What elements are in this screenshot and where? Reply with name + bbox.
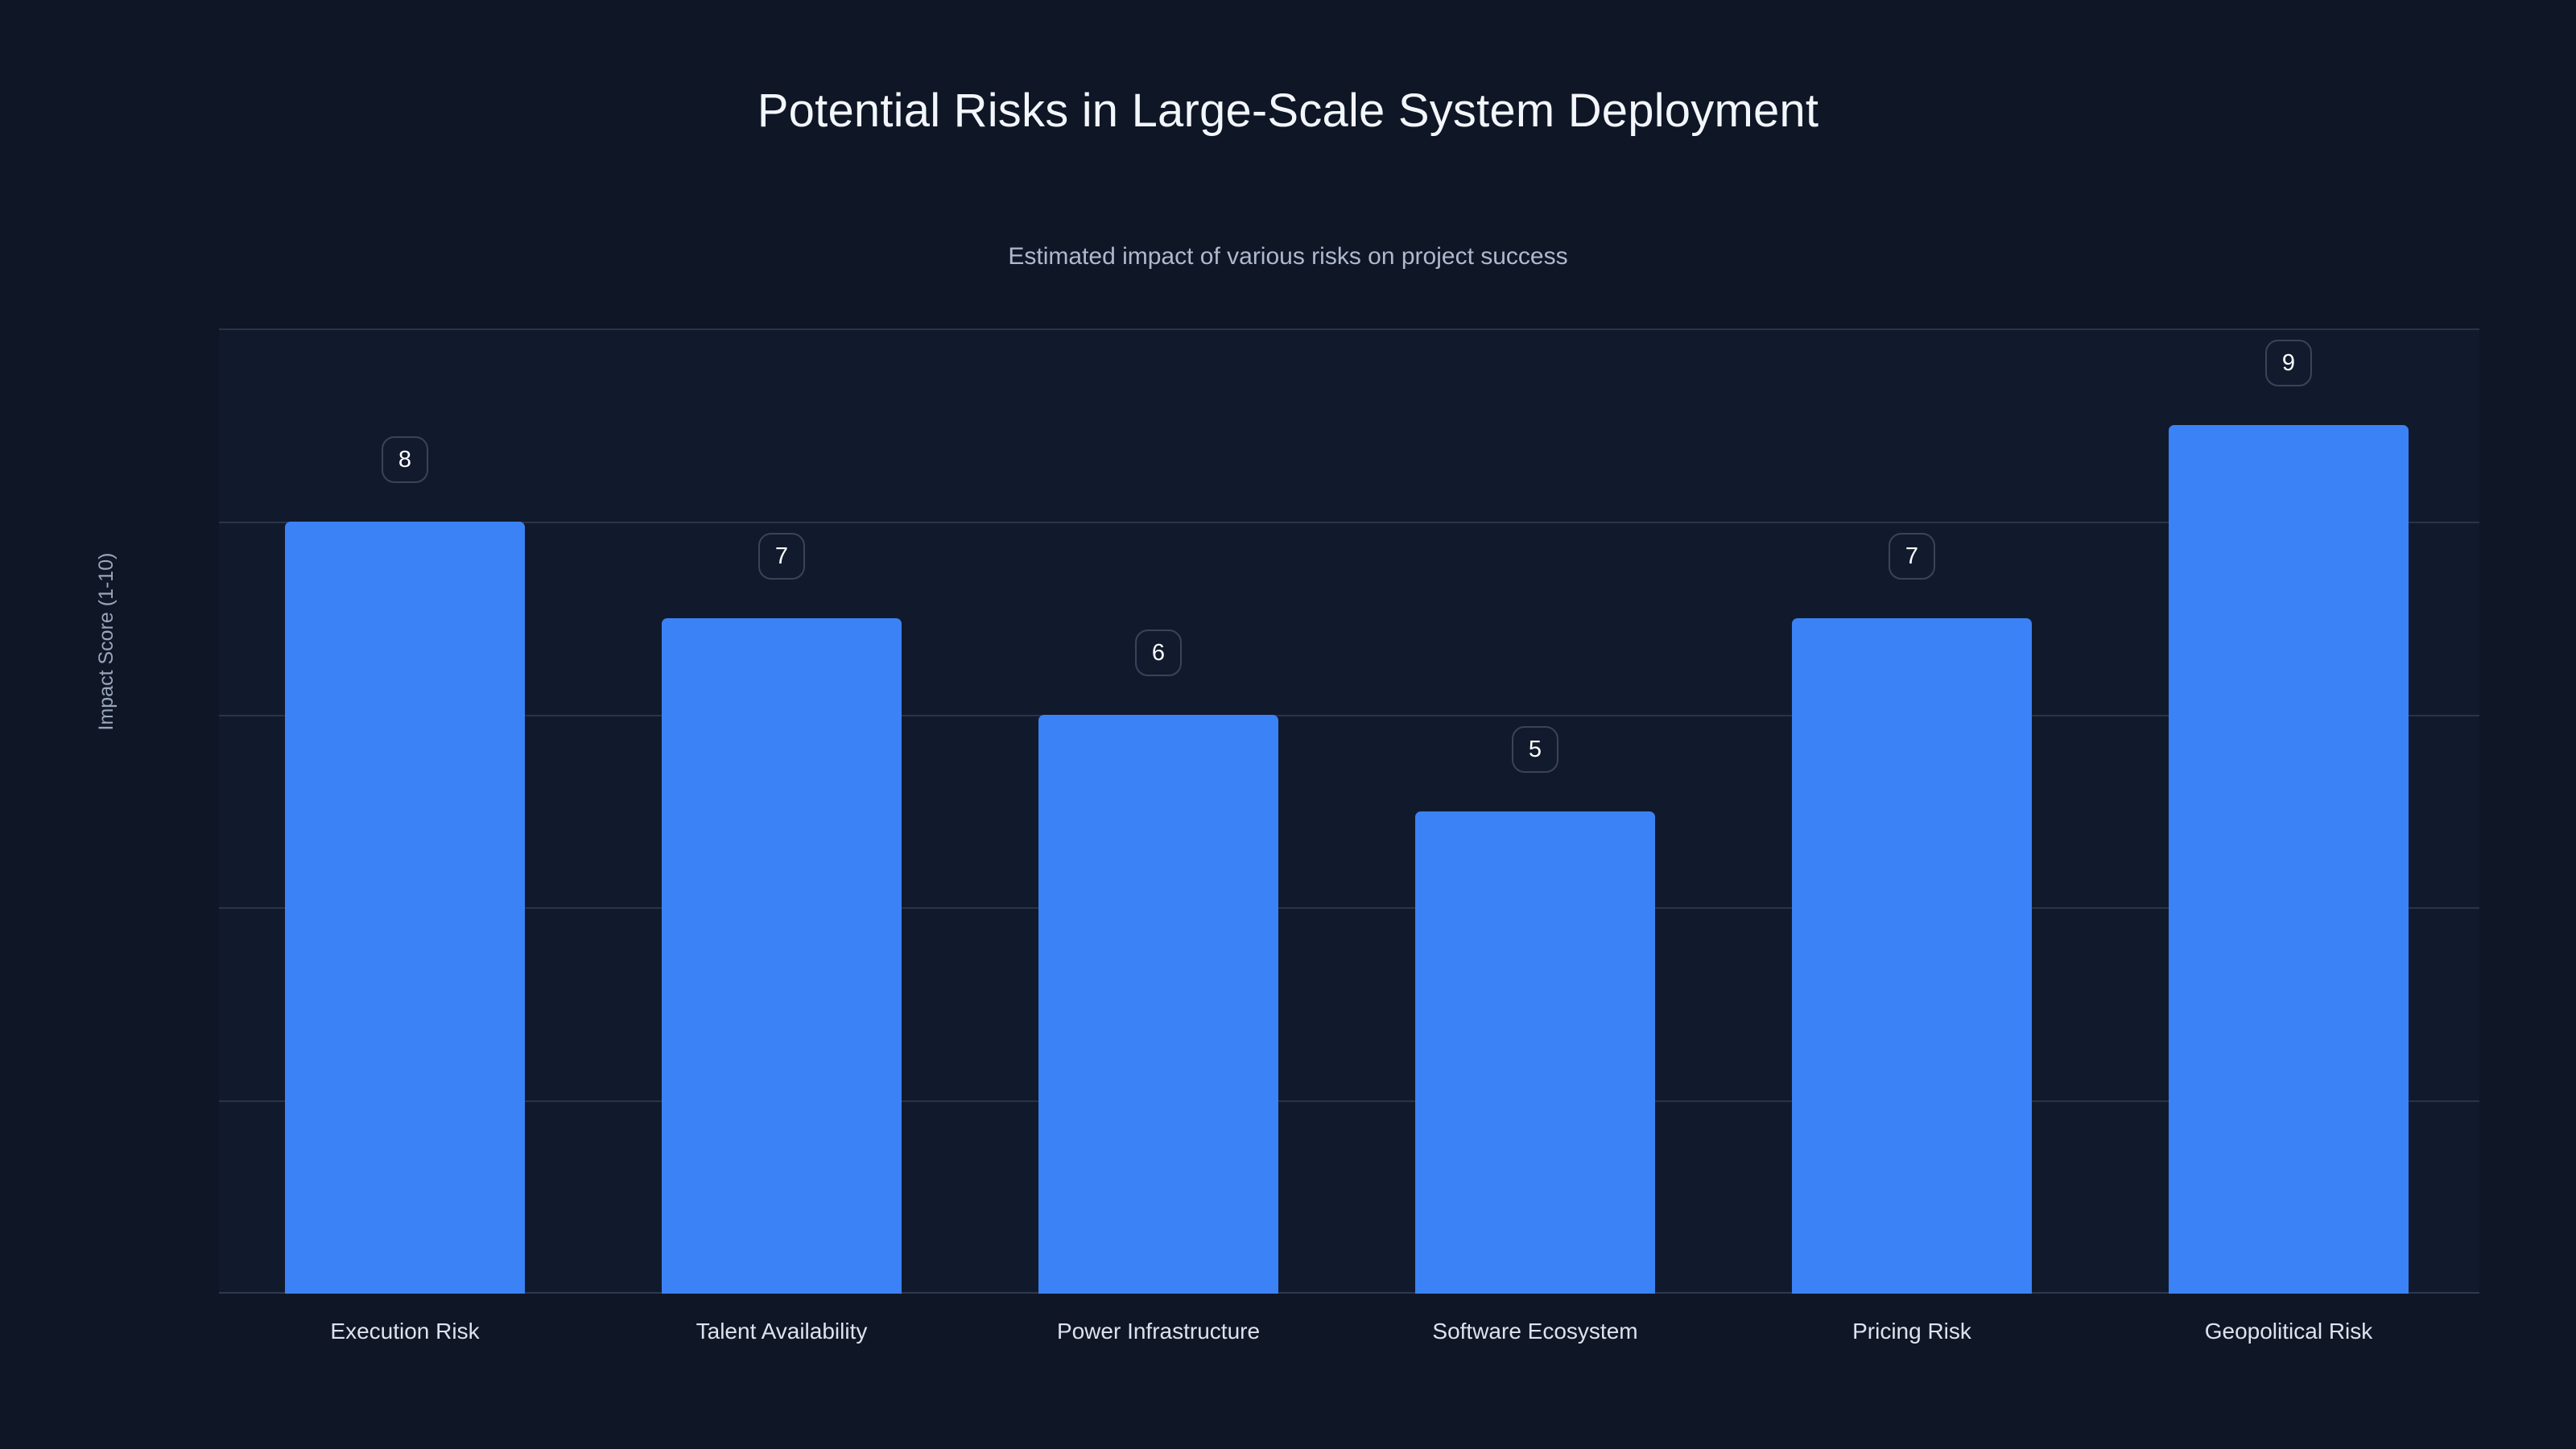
bar-value-label-geopolitical-risk: 9 [2265, 340, 2312, 386]
chart-title: Potential Risks in Large-Scale System De… [0, 85, 2576, 137]
bar-value-label-software-ecosystem: 5 [1512, 726, 1558, 773]
y-axis-title: Impact Score (1-10) [95, 473, 118, 811]
bar-talent-availability[interactable] [662, 618, 902, 1294]
gridline-4 [219, 907, 2479, 909]
plot-area: 8 7 6 5 7 9 [219, 328, 2479, 1294]
bar-value-label-power-infrastructure: 6 [1135, 630, 1182, 676]
x-tick-label-geopolitical-risk: Geopolitical Risk [2039, 1320, 2538, 1343]
gridline-2 [219, 1100, 2479, 1102]
gridline-8 [219, 522, 2479, 523]
bar-value-label-pricing-risk: 7 [1889, 533, 1935, 580]
bar-execution-risk[interactable] [285, 522, 525, 1294]
gridline-0 [219, 1292, 2479, 1294]
bar-value-label-execution-risk: 8 [382, 436, 428, 483]
bar-geopolitical-risk[interactable] [2169, 425, 2409, 1294]
gridline-6 [219, 715, 2479, 716]
bar-value-label-talent-availability: 7 [758, 533, 805, 580]
bar-software-ecosystem[interactable] [1415, 811, 1655, 1294]
bar-pricing-risk[interactable] [1792, 618, 2032, 1294]
chart-subtitle: Estimated impact of various risks on pro… [0, 243, 2576, 270]
gridline-10 [219, 328, 2479, 330]
bar-chart: Potential Risks in Large-Scale System De… [0, 0, 2576, 1449]
bar-power-infrastructure[interactable] [1038, 715, 1278, 1294]
